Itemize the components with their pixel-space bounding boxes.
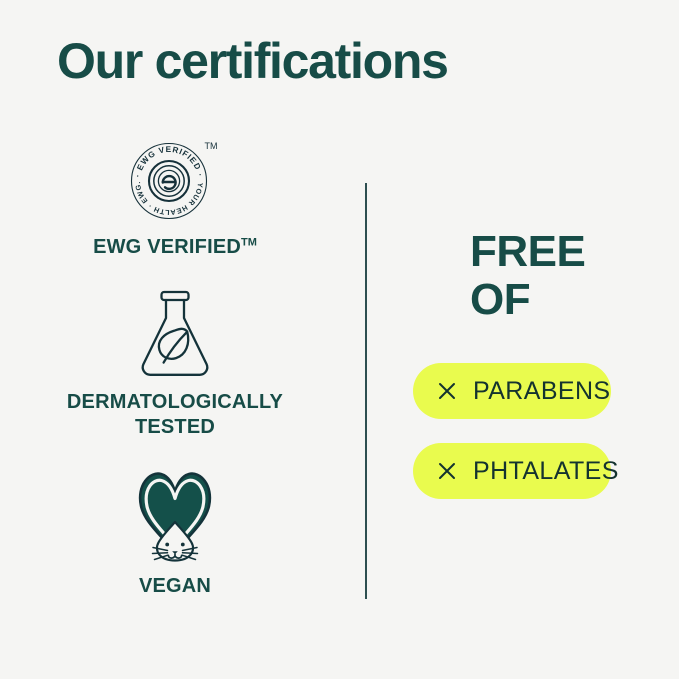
certification-item-ewg: · EWG VERIFIED · FOR YOUR HEALTH · EWG.O…: [0, 135, 350, 260]
svg-text:TM: TM: [205, 141, 218, 151]
free-of-item-list: PARABENS PHTALATES: [413, 363, 660, 499]
ewg-verified-badge-icon: · EWG VERIFIED · FOR YOUR HEALTH · EWG.O…: [0, 135, 350, 227]
x-icon: [437, 461, 457, 481]
free-of-item-phtalates-label: PHTALATES: [473, 457, 619, 486]
certification-label-ewg-text: EWG VERIFIED: [93, 236, 241, 258]
certification-label-vegan: VEGAN: [0, 574, 350, 599]
rabbit-heart-icon: [0, 462, 350, 566]
free-of-title-line1: FREE: [470, 227, 585, 276]
certification-label-dermatologically-tested: DERMATOLOGICALLY TESTED: [0, 390, 350, 440]
free-of-title: FREE OF: [400, 228, 660, 323]
certification-label-ewg: EWG VERIFIEDTM: [0, 235, 350, 260]
free-of-item-phtalates[interactable]: PHTALATES: [413, 443, 611, 499]
certification-label-derm-line1: DERMATOLOGICALLY: [67, 391, 283, 413]
certification-item-dermatologically-tested: DERMATOLOGICALLY TESTED: [0, 282, 350, 440]
free-of-section: FREE OF PARABENS PHTALATES: [400, 228, 660, 523]
certification-list: · EWG VERIFIED · FOR YOUR HEALTH · EWG.O…: [0, 135, 350, 621]
free-of-item-parabens[interactable]: PARABENS: [413, 363, 611, 419]
certification-label-derm-line2: TESTED: [135, 416, 215, 438]
certification-item-vegan: VEGAN: [0, 462, 350, 599]
free-of-title-line2: OF: [470, 276, 660, 324]
flask-leaf-icon: [0, 282, 350, 382]
page-title: Our certifications: [57, 34, 448, 89]
trademark-symbol: TM: [241, 236, 257, 248]
free-of-item-parabens-label: PARABENS: [473, 377, 611, 406]
column-divider: [365, 183, 367, 599]
certifications-panel: Our certifications · EWG VERIFIED ·: [0, 0, 679, 679]
x-icon: [437, 381, 457, 401]
